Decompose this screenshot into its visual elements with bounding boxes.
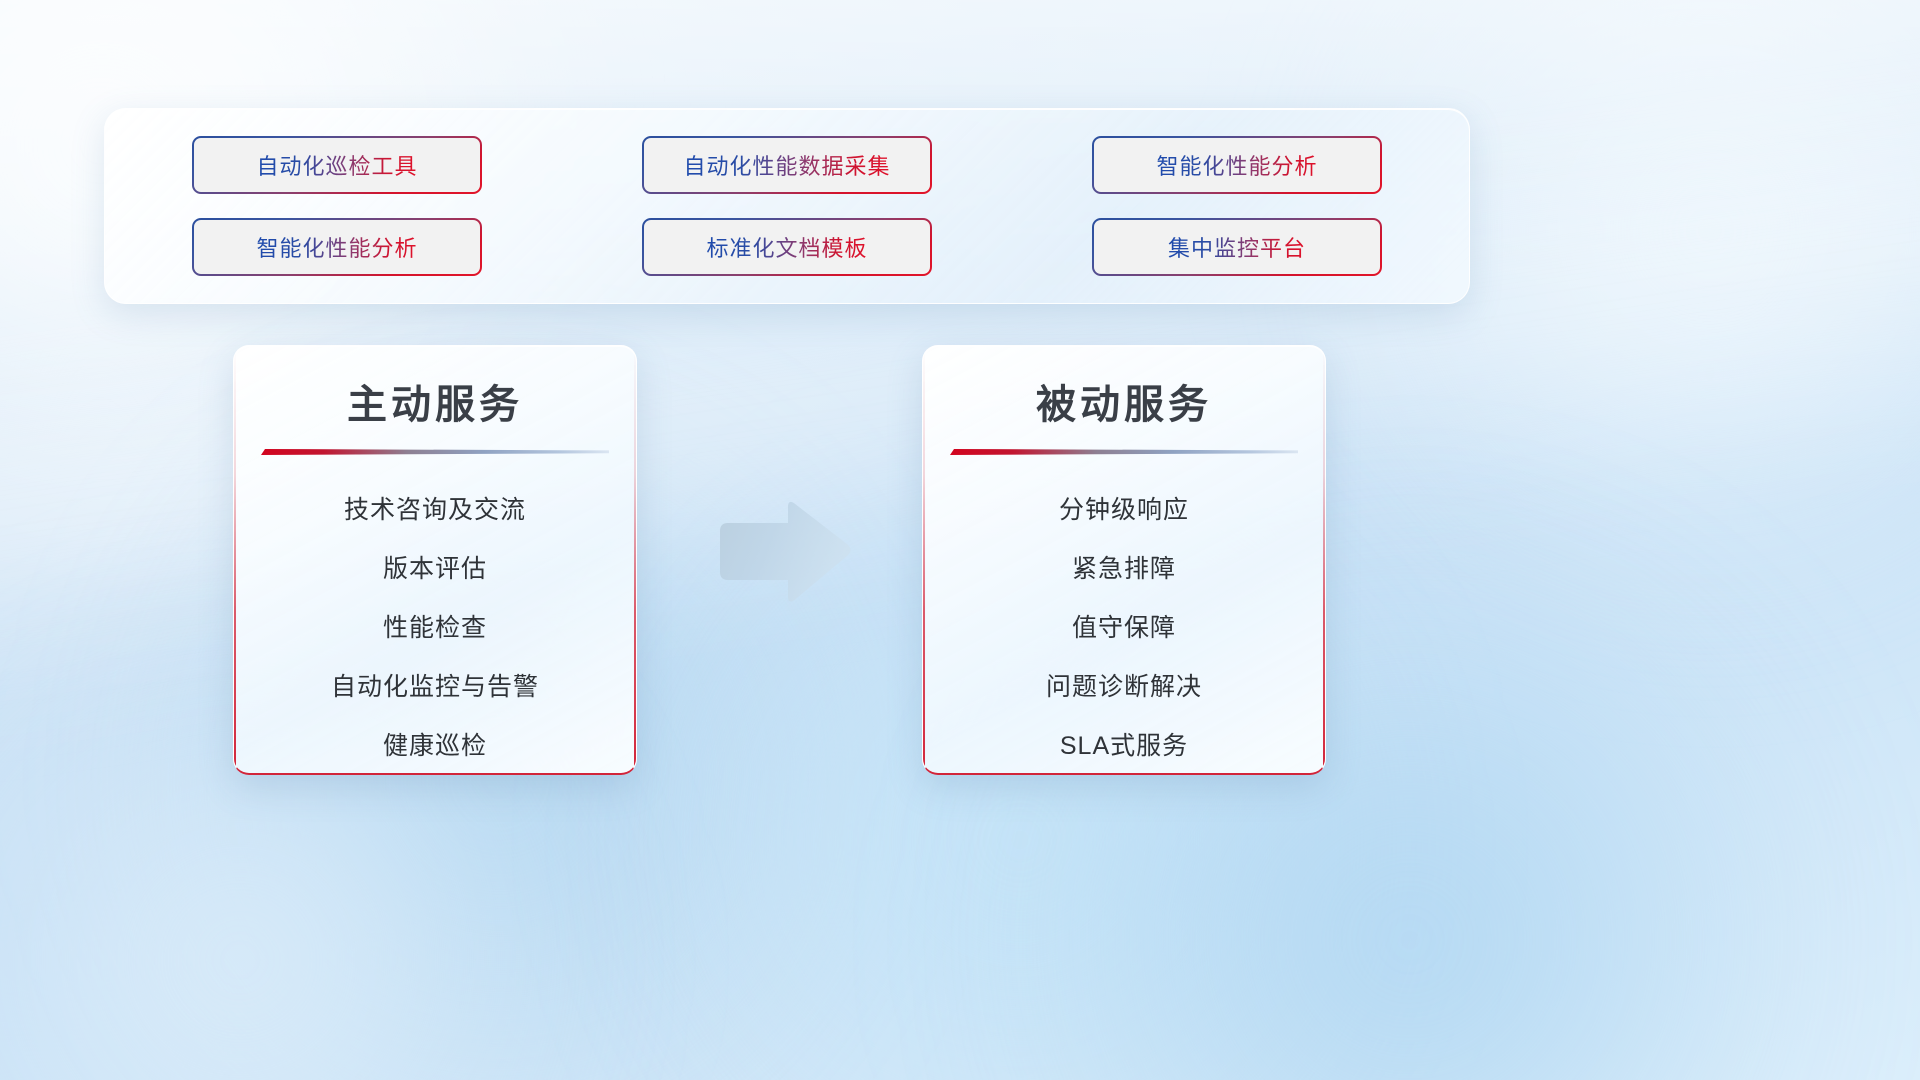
proactive-service-title: 主动服务 <box>234 346 636 430</box>
list-item: SLA式服务 <box>923 717 1325 775</box>
capability-pill-5[interactable]: 标准化文档模板 <box>642 218 932 276</box>
proactive-service-divider <box>261 448 609 455</box>
list-item: 自动化监控与告警 <box>234 658 636 717</box>
reactive-service-divider <box>950 448 1298 455</box>
capability-pill-4-label: 智能化性能分析 <box>256 231 417 263</box>
capability-pill-3-label: 智能化性能分析 <box>1156 149 1317 181</box>
capability-pill-4-surface: 智能化性能分析 <box>194 220 480 274</box>
capability-pill-3-surface: 智能化性能分析 <box>1094 138 1380 192</box>
capability-pill-6-surface: 集中监控平台 <box>1094 220 1380 274</box>
list-item: 版本评估 <box>234 540 636 599</box>
list-item: 健康巡检 <box>234 717 636 775</box>
list-item: 问题诊断解决 <box>923 658 1325 717</box>
capability-pill-2[interactable]: 自动化性能数据采集 <box>642 136 932 194</box>
capability-pill-1[interactable]: 自动化巡检工具 <box>192 136 482 194</box>
proactive-service-card: 主动服务 技术咨询及交流 版本评估 性能检查 自动化监控与告警 健康巡检 <box>233 345 637 775</box>
capability-grid: 自动化巡检工具 自动化性能数据采集 智能化性能分析 智能化性能分析 标准化文档模… <box>192 136 1382 276</box>
capability-panel: 自动化巡检工具 自动化性能数据采集 智能化性能分析 智能化性能分析 标准化文档模… <box>104 108 1470 304</box>
capability-pill-3[interactable]: 智能化性能分析 <box>1092 136 1382 194</box>
capability-pill-5-surface: 标准化文档模板 <box>644 220 930 274</box>
reactive-service-list: 分钟级响应 紧急排障 值守保障 问题诊断解决 SLA式服务 <box>923 455 1325 775</box>
capability-pill-1-label: 自动化巡检工具 <box>256 149 417 181</box>
capability-pill-4[interactable]: 智能化性能分析 <box>192 218 482 276</box>
proactive-service-list: 技术咨询及交流 版本评估 性能检查 自动化监控与告警 健康巡检 <box>234 455 636 775</box>
reactive-service-card: 被动服务 分钟级响应 紧急排障 值守保障 问题诊断解决 SLA式服务 <box>922 345 1326 775</box>
list-item: 紧急排障 <box>923 540 1325 599</box>
list-item: 值守保障 <box>923 599 1325 658</box>
arrow-right-icon <box>714 498 854 606</box>
capability-pill-1-surface: 自动化巡检工具 <box>194 138 480 192</box>
capability-pill-6-label: 集中监控平台 <box>1168 231 1306 263</box>
reactive-service-title: 被动服务 <box>923 346 1325 430</box>
list-item: 技术咨询及交流 <box>234 481 636 540</box>
capability-pill-6[interactable]: 集中监控平台 <box>1092 218 1382 276</box>
capability-pill-5-label: 标准化文档模板 <box>706 231 867 263</box>
capability-pill-2-surface: 自动化性能数据采集 <box>644 138 930 192</box>
list-item: 性能检查 <box>234 599 636 658</box>
list-item: 分钟级响应 <box>923 481 1325 540</box>
capability-pill-2-label: 自动化性能数据采集 <box>683 149 890 181</box>
